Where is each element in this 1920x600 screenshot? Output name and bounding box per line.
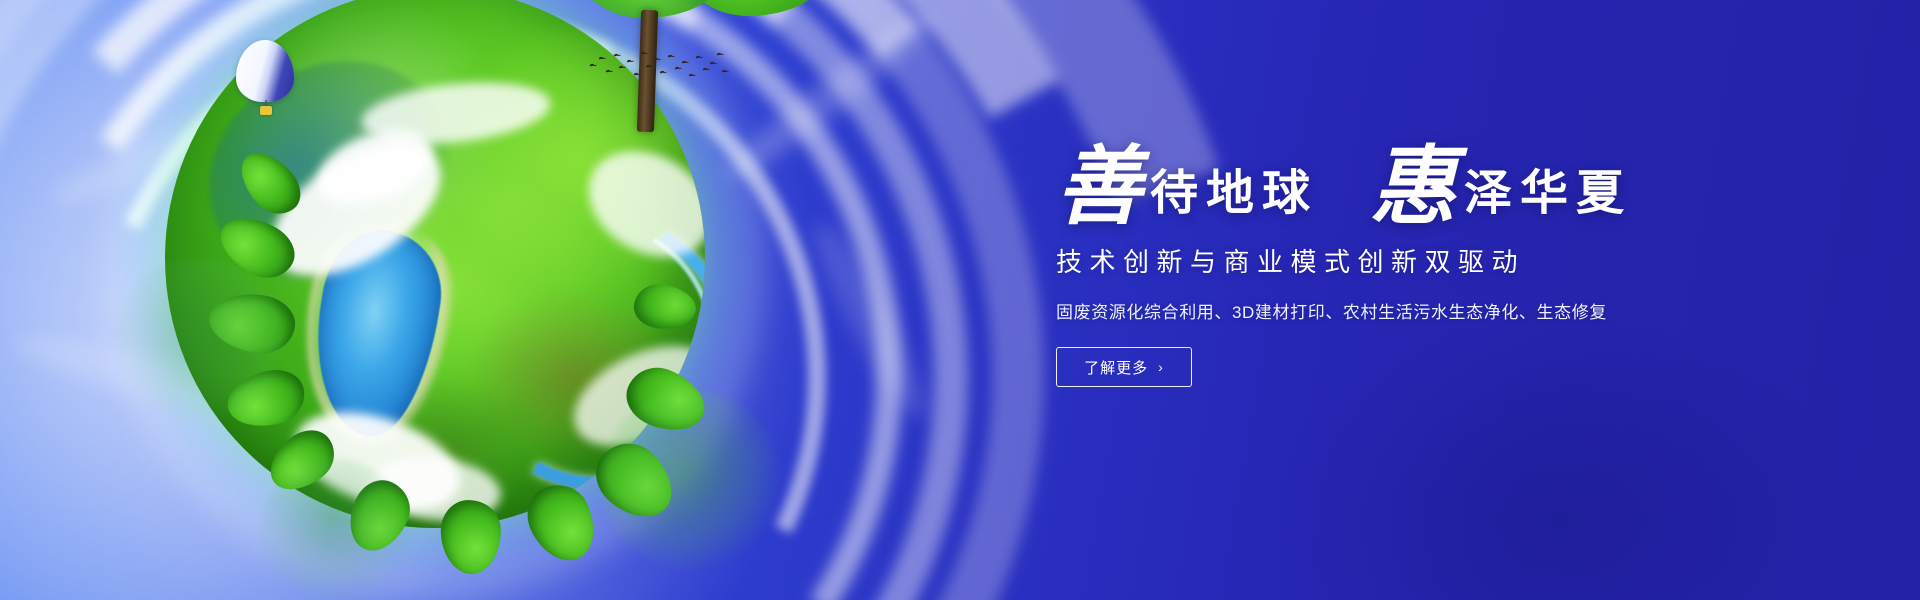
hero-banner: 善 待地球 惠 泽华夏 技术创新与商业模式创新双驱动 固废资源化综合利用、3D建…: [0, 0, 1920, 600]
headline-char-hui: 惠: [1370, 144, 1456, 230]
page-title: 善 待地球 惠 泽华夏: [1056, 138, 1756, 224]
bird-flock-icon: [588, 48, 728, 94]
chevron-right-icon: ›: [1158, 359, 1164, 375]
cloud-wisp-4-icon: [801, 213, 940, 426]
hero-copy-block: 善 待地球 惠 泽华夏 技术创新与商业模式创新双驱动 固废资源化综合利用、3D建…: [1056, 138, 1756, 387]
page-subtitle: 技术创新与商业模式创新双驱动: [1056, 242, 1756, 279]
headline-char-shan: 善: [1056, 144, 1142, 230]
headline-text-zehuaxia: 泽华夏: [1464, 170, 1632, 218]
page-description: 固废资源化综合利用、3D建材打印、农村生活污水生态净化、生态修复: [1056, 298, 1756, 323]
headline-text-daidiqiu: 待地球: [1150, 170, 1318, 218]
learn-more-button[interactable]: 了解更多 ›: [1056, 347, 1192, 387]
learn-more-label: 了解更多: [1084, 357, 1148, 378]
hot-air-balloon-icon: [236, 40, 294, 116]
